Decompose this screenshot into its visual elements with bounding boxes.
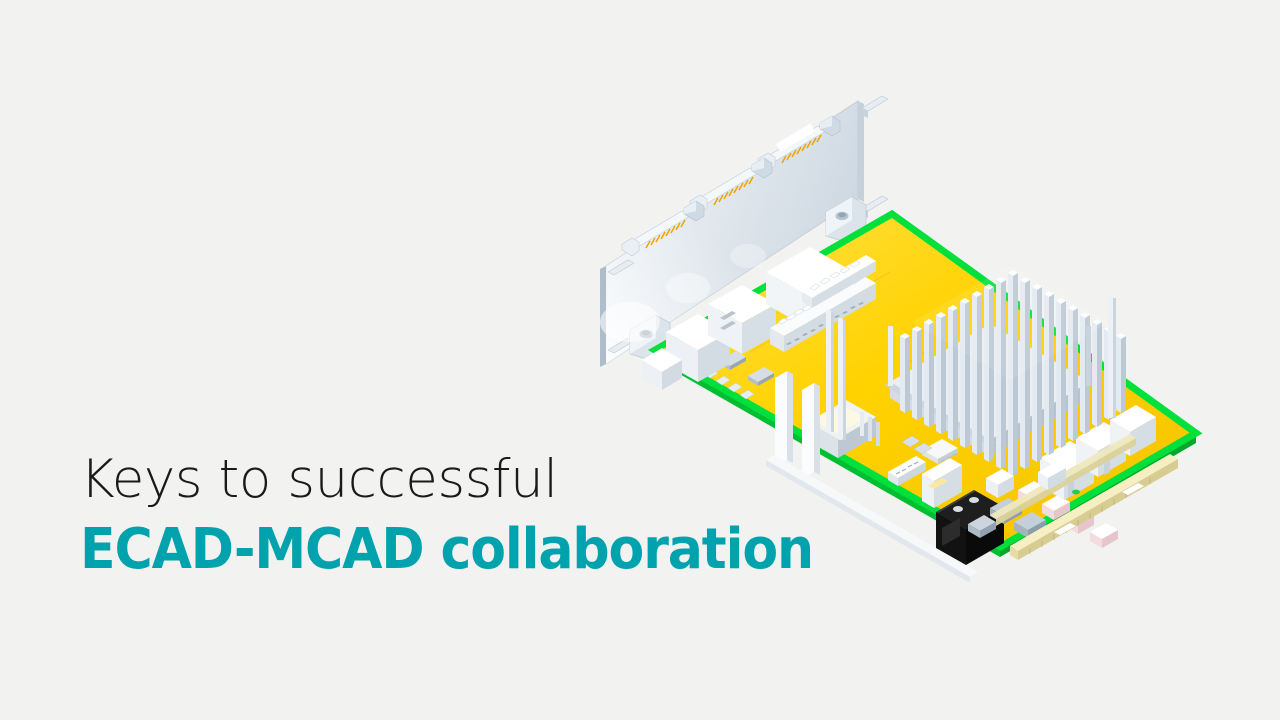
- title-line-2: ECAD-MCAD collaboration: [80, 516, 813, 584]
- standoff-post: [838, 318, 846, 440]
- slide-canvas: Keys to successful ECAD-MCAD collaborati…: [0, 0, 1280, 720]
- title-block: Keys to successful ECAD-MCAD collaborati…: [80, 450, 868, 584]
- standoff-post: [826, 310, 834, 432]
- title-line-1: Keys to successful: [80, 450, 868, 510]
- standoff-post: [1108, 296, 1116, 418]
